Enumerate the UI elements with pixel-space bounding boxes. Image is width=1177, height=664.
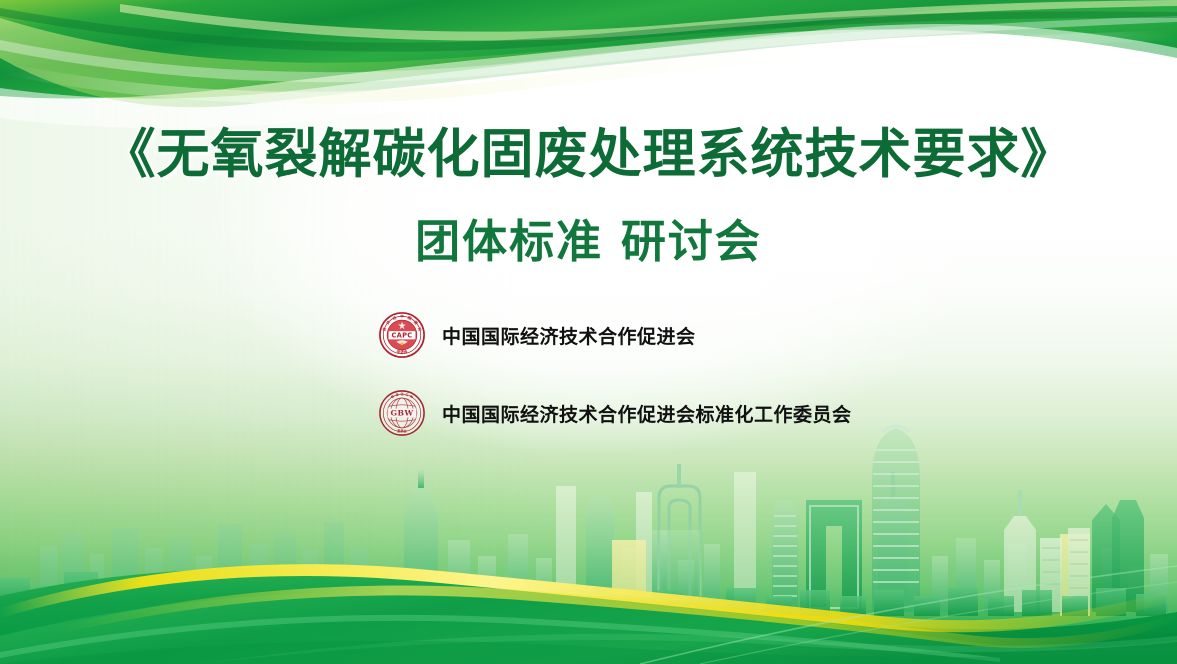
- svg-text:促进会: 促进会: [396, 349, 408, 354]
- gbw-seal-icon: GBW 标 准 化 工 作 委员会: [378, 389, 426, 437]
- organization-name: 中国国际经济技术合作促进会标准化工作委员会: [442, 400, 852, 427]
- svg-text:中: 中: [400, 314, 404, 319]
- svg-text:GBW: GBW: [390, 408, 413, 417]
- organization-name: 中国国际经济技术合作促进会: [442, 322, 696, 349]
- capc-seal-icon: 中 国 国 际 经 济 技 促进会 CAPC: [378, 311, 426, 359]
- organization-row-gbw: GBW 标 准 化 工 作 委员会 中国国际经济技术合作促进会标准化工作委员会: [378, 389, 852, 437]
- page-subtitle: 团体标准 研讨会: [0, 205, 1177, 270]
- svg-text:CAPC: CAPC: [392, 332, 413, 340]
- page-title: 《无氧裂解碳化固废处理系统技术要求》: [0, 112, 1177, 188]
- organization-row-capc: 中 国 国 际 经 济 技 促进会 CAPC 中国国际经济技术合作促进会: [378, 311, 696, 359]
- presentation-slide: 《无氧裂解碳化固废处理系统技术要求》 团体标准 研讨会 中 国 国 际 经 济 …: [0, 0, 1177, 664]
- svg-text:委员会: 委员会: [396, 428, 407, 433]
